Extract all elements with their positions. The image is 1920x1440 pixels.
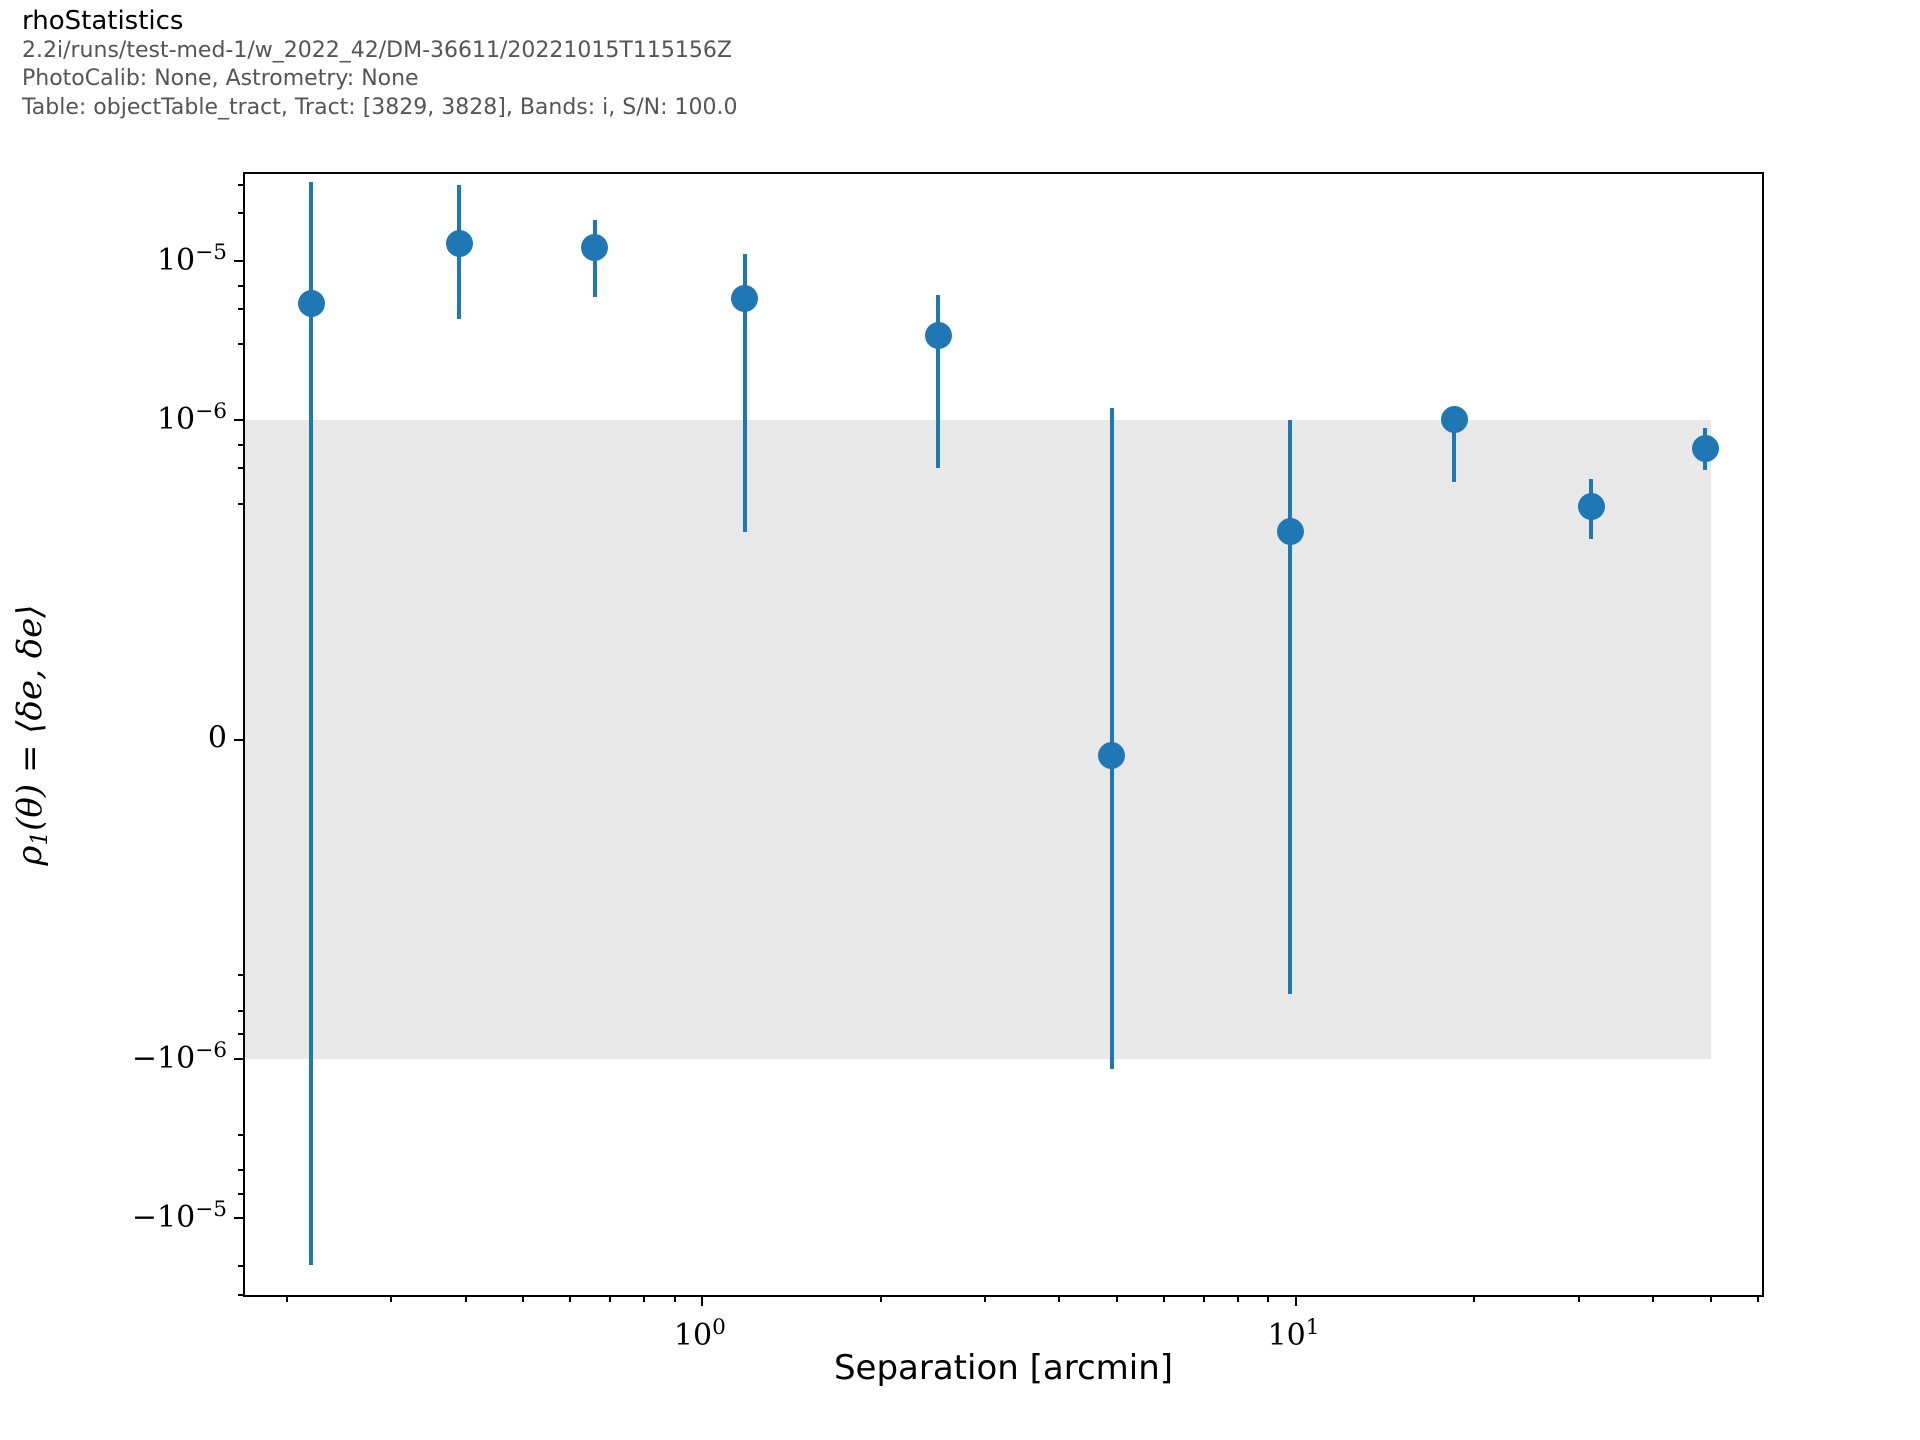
y-axis-minor-tick: [238, 467, 245, 469]
y-axis-tick-label: 0: [208, 720, 227, 755]
x-axis-minor-tick: [522, 1295, 524, 1302]
x-axis-minor-tick: [643, 1295, 645, 1302]
y-axis-minor-tick: [238, 974, 245, 976]
y-axis-tick-label: −10−5: [132, 1197, 227, 1235]
x-axis-minor-tick: [569, 1295, 571, 1302]
x-axis-minor-tick: [286, 1295, 288, 1302]
y-axis-label-container: ρ1(θ) = ⟨δe, δe⟩: [0, 172, 60, 1297]
y-axis-minor-tick: [238, 212, 245, 214]
subtitle-calib-info: PhotoCalib: None, Astrometry: None: [22, 65, 1622, 94]
x-axis-minor-tick: [1267, 1295, 1269, 1302]
y-axis-minor-tick: [238, 1265, 245, 1267]
y-axis-minor-tick: [238, 503, 245, 505]
x-axis-minor-tick: [1116, 1295, 1118, 1302]
y-axis-tick-label: −10−6: [132, 1038, 227, 1076]
data-point: [446, 230, 473, 257]
subtitle-collection-path: 2.2i/runs/test-med-1/w_2022_42/DM-36611/…: [22, 37, 1622, 66]
y-axis-minor-tick: [238, 343, 245, 345]
y-axis-tick: [234, 1217, 245, 1219]
data-point: [1098, 742, 1125, 769]
y-axis-minor-tick: [238, 308, 245, 310]
x-axis-minor-tick: [1757, 1295, 1759, 1302]
x-axis-minor-tick: [1203, 1295, 1205, 1302]
requirement-band: [245, 420, 1711, 1058]
x-axis-minor-tick: [1578, 1295, 1580, 1302]
x-axis-minor-tick: [465, 1295, 467, 1302]
data-point: [1578, 493, 1605, 520]
error-bar: [1110, 408, 1114, 1069]
figure-canvas: rhoStatistics 2.2i/runs/test-med-1/w_202…: [0, 0, 1920, 1440]
x-axis-minor-tick: [1163, 1295, 1165, 1302]
y-axis-minor-tick: [238, 1193, 245, 1195]
error-bar: [1288, 420, 1292, 993]
error-bar: [309, 182, 313, 1266]
y-axis-minor-tick: [238, 285, 245, 287]
y-axis-tick: [234, 1058, 245, 1060]
x-axis-minor-tick: [1710, 1295, 1712, 1302]
data-point: [1692, 435, 1719, 462]
x-axis-minor-tick: [390, 1295, 392, 1302]
y-axis-minor-tick: [238, 1294, 245, 1296]
x-axis-minor-tick: [609, 1295, 611, 1302]
data-point: [925, 322, 952, 349]
data-point: [298, 290, 325, 317]
error-bar: [936, 295, 940, 468]
y-axis-minor-tick: [238, 444, 245, 446]
y-axis-tick: [234, 739, 245, 741]
data-point: [731, 285, 758, 312]
y-axis-label: ρ1(θ) = ⟨δe, δe⟩: [10, 604, 50, 865]
y-axis-minor-tick: [238, 1169, 245, 1171]
y-axis-tick-label: 10−5: [157, 240, 227, 278]
data-point: [581, 234, 608, 261]
y-axis-tick: [234, 419, 245, 421]
subtitle-table-info: Table: objectTable_tract, Tract: [3829, …: [22, 94, 1622, 123]
x-axis-minor-tick: [984, 1295, 986, 1302]
x-axis-minor-tick: [1237, 1295, 1239, 1302]
figure-header: rhoStatistics 2.2i/runs/test-med-1/w_202…: [22, 6, 1622, 122]
page-title: rhoStatistics: [22, 6, 1622, 37]
y-axis-tick-label: 10−6: [157, 399, 227, 437]
y-axis-minor-tick: [238, 1010, 245, 1012]
plot-axes: [243, 172, 1764, 1297]
x-axis-tick: [701, 1295, 703, 1306]
x-axis-minor-tick: [880, 1295, 882, 1302]
x-axis-minor-tick: [1058, 1295, 1060, 1302]
x-axis-minor-tick: [1473, 1295, 1475, 1302]
y-axis-tick: [234, 260, 245, 262]
x-axis-minor-tick: [674, 1295, 676, 1302]
y-axis-minor-tick: [238, 184, 245, 186]
data-point: [1441, 406, 1468, 433]
x-axis-label: Separation [arcmin]: [243, 1348, 1764, 1388]
x-axis-minor-tick: [1652, 1295, 1654, 1302]
x-axis-tick: [1295, 1295, 1297, 1306]
y-axis-minor-tick: [238, 1134, 245, 1136]
y-axis-minor-tick: [238, 1033, 245, 1035]
